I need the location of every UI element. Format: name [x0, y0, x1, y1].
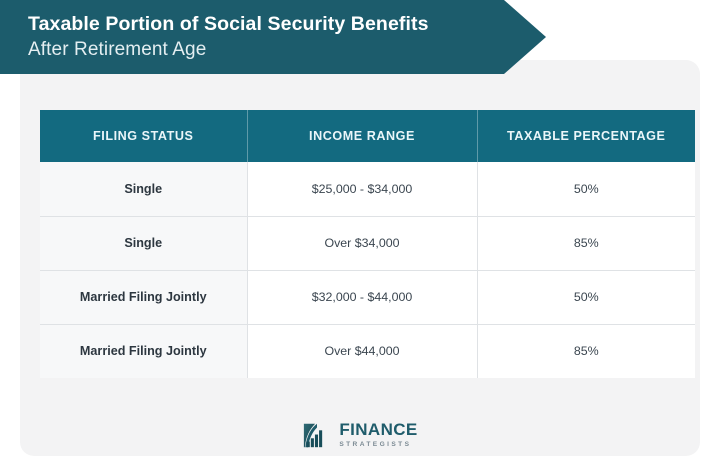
table-header-row: FILING STATUS INCOME RANGE TAXABLE PERCE… [40, 110, 695, 162]
table-row: Married Filing Jointly $32,000 - $44,000… [40, 270, 695, 324]
cell-taxable-percentage: 50% [477, 270, 695, 324]
brand-name: FINANCE [339, 421, 417, 438]
column-header-income-range: INCOME RANGE [247, 110, 477, 162]
cell-filing-status: Single [40, 216, 247, 270]
table-header: FILING STATUS INCOME RANGE TAXABLE PERCE… [40, 110, 695, 162]
brand-logo: FINANCE STRATEGISTS [0, 420, 720, 450]
header-banner: Taxable Portion of Social Security Benef… [0, 0, 546, 74]
page-subtitle: After Retirement Age [28, 37, 498, 63]
infographic-page: Taxable Portion of Social Security Benef… [0, 0, 720, 468]
cell-income-range: Over $34,000 [247, 216, 477, 270]
cell-taxable-percentage: 85% [477, 324, 695, 378]
table-row: Married Filing Jointly Over $44,000 85% [40, 324, 695, 378]
table-row: Single $25,000 - $34,000 50% [40, 162, 695, 216]
brand-tagline: STRATEGISTS [339, 440, 417, 450]
cell-income-range: $25,000 - $34,000 [247, 162, 477, 216]
table-row: Single Over $34,000 85% [40, 216, 695, 270]
column-header-filing-status: FILING STATUS [40, 110, 247, 162]
cell-filing-status: Married Filing Jointly [40, 324, 247, 378]
column-header-taxable-percentage: TAXABLE PERCENTAGE [477, 110, 695, 162]
finance-strategists-bar-chart-icon [302, 420, 332, 450]
cell-filing-status: Married Filing Jointly [40, 270, 247, 324]
taxable-portion-table-container: FILING STATUS INCOME RANGE TAXABLE PERCE… [40, 110, 695, 378]
table-body: Single $25,000 - $34,000 50% Single Over… [40, 162, 695, 378]
cell-taxable-percentage: 50% [477, 162, 695, 216]
page-title: Taxable Portion of Social Security Benef… [28, 12, 498, 37]
cell-income-range: $32,000 - $44,000 [247, 270, 477, 324]
brand-logo-text: FINANCE STRATEGISTS [339, 421, 417, 450]
cell-income-range: Over $44,000 [247, 324, 477, 378]
cell-taxable-percentage: 85% [477, 216, 695, 270]
cell-filing-status: Single [40, 162, 247, 216]
taxable-portion-table: FILING STATUS INCOME RANGE TAXABLE PERCE… [40, 110, 695, 378]
header-banner-text: Taxable Portion of Social Security Benef… [28, 12, 498, 63]
